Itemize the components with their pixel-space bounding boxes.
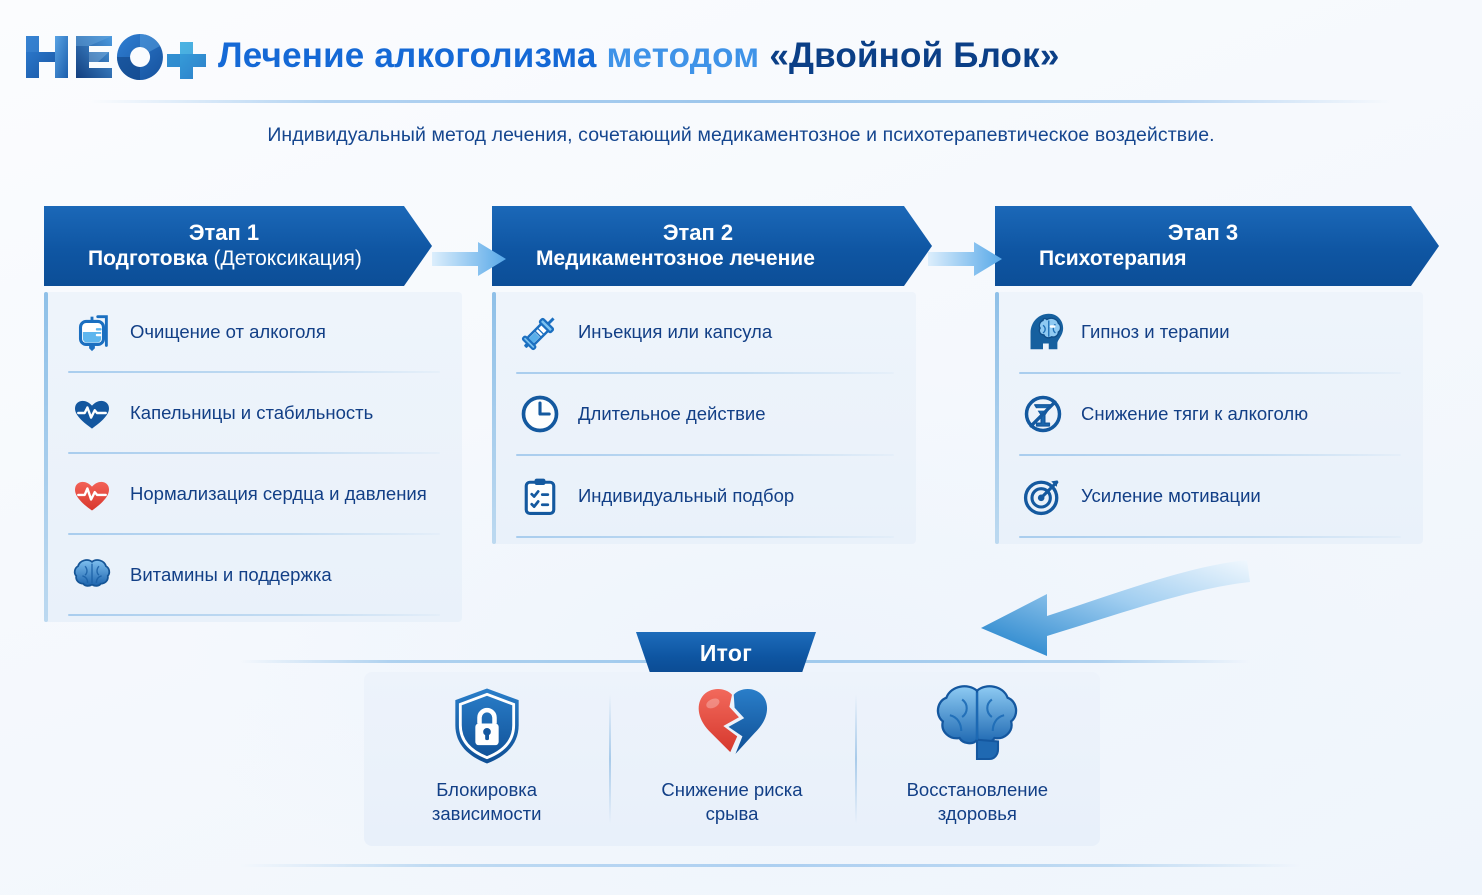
stage-1-card: Очищение от алкоголя Капельницы и стабил…	[44, 292, 462, 622]
stage-2-name: Медикаментозное лечение	[492, 246, 932, 272]
list-item[interactable]: Снижение тяги к алкоголю	[995, 374, 1423, 454]
list-item-label: Гипноз и терапии	[1081, 321, 1230, 343]
list-item-label: Индивидуальный подбор	[578, 485, 794, 507]
result-curved-arrow	[975, 552, 1250, 662]
list-item[interactable]: Нормализация сердца и давления	[44, 454, 462, 533]
iv-drip-icon	[66, 306, 118, 358]
result-item-label: Снижение риска срыва	[661, 778, 802, 826]
heart-pulse-red-icon	[66, 468, 118, 520]
result-item[interactable]: Блокировка зависимости	[364, 672, 609, 846]
stage-3-banner: Этап 3 Психотерапия	[995, 206, 1439, 286]
syringe-icon	[514, 306, 566, 358]
no-alcohol-glass-icon	[1017, 388, 1069, 440]
list-item[interactable]: Усиление мотивации	[995, 456, 1423, 536]
heart-pulse-blue-icon	[66, 387, 118, 439]
head-brain-icon	[1017, 306, 1069, 358]
list-item[interactable]: Витамины и поддержка	[44, 535, 462, 614]
stage-3-name-bold: Психотерапия	[1039, 247, 1186, 270]
result-item-line1: Блокировка	[436, 779, 537, 800]
stage-3-number: Этап 3	[995, 220, 1439, 245]
list-item[interactable]: Гипноз и терапии	[995, 292, 1423, 372]
page-title: Лечение алкоголизма методом «Двойной Бло…	[218, 34, 1060, 78]
stage-3-name: Психотерапия	[995, 246, 1439, 272]
page-header: Лечение алкоголизма методом «Двойной Бло…	[0, 0, 1482, 100]
brain-big-icon	[927, 692, 1027, 766]
stage-connector-arrow-2	[928, 236, 1006, 282]
stage-2-number: Этап 2	[492, 220, 932, 245]
list-item-label: Капельницы и стабильность	[130, 402, 373, 424]
page-title-part1: Лечение алкоголизма	[218, 36, 597, 75]
list-item-label: Очищение от алкоголя	[130, 321, 326, 343]
result-item-line2: срыва	[706, 803, 759, 824]
shield-lock-icon	[447, 692, 527, 766]
stage-2-banner: Этап 2 Медикаментозное лечение	[492, 206, 932, 286]
stage-1-name: Подготовка (Детоксикация)	[44, 246, 432, 272]
result-item-label: Блокировка зависимости	[432, 778, 542, 826]
stage-1-number: Этап 1	[44, 220, 432, 245]
list-item-label: Снижение тяги к алкоголю	[1081, 403, 1308, 425]
page-title-part3: «Двойной Блок»	[769, 36, 1059, 75]
page-title-part2: методом	[606, 36, 759, 75]
stage-3-card: Гипноз и терапии Снижение тяги к алкогол…	[995, 292, 1423, 544]
list-item-label: Инъекция или капсула	[578, 321, 772, 343]
result-item-line1: Восстановление	[907, 779, 1049, 800]
list-item[interactable]: Индивидуальный подбор	[492, 456, 916, 536]
result-item-label: Восстановление здоровья	[907, 778, 1049, 826]
result-item[interactable]: Снижение риска срыва	[609, 672, 854, 846]
list-item[interactable]: Инъекция или капсула	[492, 292, 916, 372]
list-item-label: Витамины и поддержка	[130, 564, 332, 586]
clipboard-checklist-icon	[514, 470, 566, 522]
result-bottom-divider	[240, 864, 1300, 867]
stage-2-card: Инъекция или капсула Длительное действие	[492, 292, 916, 544]
neo-plus-logo	[24, 30, 206, 84]
stage-2-name-bold: Медикаментозное лечение	[536, 247, 815, 270]
result-item-line2: здоровья	[938, 803, 1017, 824]
page-subtitle: Индивидуальный метод лечения, сочетающий…	[0, 124, 1482, 147]
stage-connector-arrow-1	[432, 236, 510, 282]
list-item-label: Длительное действие	[578, 403, 766, 425]
header-divider	[90, 100, 1390, 103]
result-item[interactable]: Восстановление здоровья	[855, 672, 1100, 846]
stage-1-banner: Этап 1 Подготовка (Детоксикация)	[44, 206, 432, 286]
brain-icon	[66, 549, 118, 601]
stage-column-2: Этап 2 Медикаментозное лечение	[492, 206, 962, 544]
stage-1-name-light: (Детоксикация)	[214, 247, 362, 270]
result-item-line1: Снижение риска	[661, 779, 802, 800]
list-item-label: Нормализация сердца и давления	[130, 483, 427, 505]
list-item-label: Усиление мотивации	[1081, 485, 1261, 507]
broken-heart-icon	[688, 692, 776, 766]
result-badge: Итог	[636, 632, 816, 674]
stage-1-name-bold: Подготовка	[88, 247, 208, 270]
result-item-line2: зависимости	[432, 803, 542, 824]
list-item[interactable]: Длительное действие	[492, 374, 916, 454]
list-item[interactable]: Капельницы и стабильность	[44, 373, 462, 452]
clock-icon	[514, 388, 566, 440]
stage-column-3: Этап 3 Психотерапия Гипноз и терапии	[995, 206, 1467, 544]
list-item[interactable]: Очищение от алкоголя	[44, 292, 462, 371]
target-arrow-icon	[1017, 470, 1069, 522]
